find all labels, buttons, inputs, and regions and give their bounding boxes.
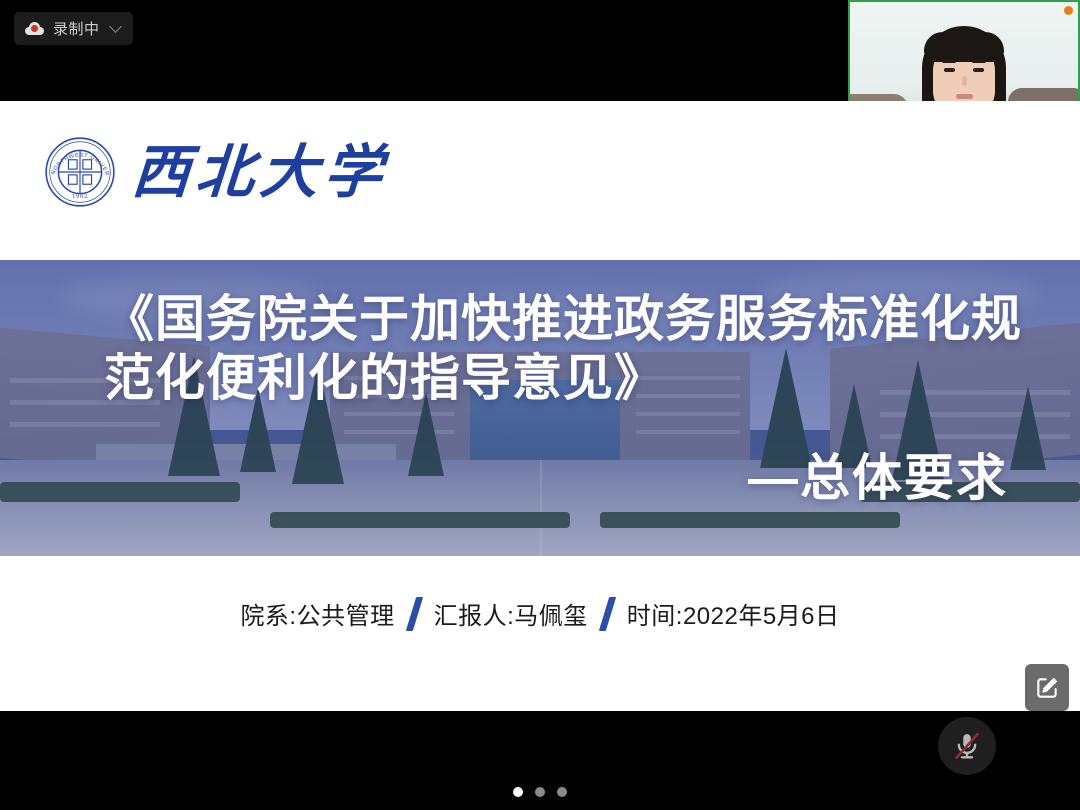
university-seal-icon: NORTHWEST UNIVERSITY XIAN CHINA 1902 (44, 136, 116, 208)
participant-mouth (956, 94, 973, 99)
meta-date: 时间:2022年5月6日 (627, 596, 840, 631)
participant-nose (962, 76, 967, 86)
participant-brow-right (972, 60, 986, 63)
participant-fringe (924, 32, 1004, 62)
annotate-pencil-icon (1034, 675, 1060, 701)
recording-status-badge[interactable]: 录制中 (14, 12, 133, 45)
svg-text:1902: 1902 (72, 193, 88, 200)
university-logo: NORTHWEST UNIVERSITY XIAN CHINA 1902 西北大… (44, 136, 388, 208)
meta-presenter: 汇报人:马佩玺 (434, 596, 588, 631)
participant-eye-right (973, 68, 984, 72)
chevron-down-icon[interactable] (109, 20, 122, 33)
slide-subtitle: —总体要求 (748, 438, 1008, 510)
bottom-toolbar (0, 711, 1080, 810)
meeting-screenshare-view: 录制中 马佩玺 (0, 0, 1080, 810)
cloud-recording-icon (25, 22, 44, 35)
annotate-button[interactable] (1025, 664, 1069, 711)
top-toolbar: 录制中 马佩玺 (0, 0, 1080, 101)
microphone-muted-icon (952, 731, 982, 761)
university-wordmark: 西北大学 (130, 143, 390, 201)
pagination-dot-3[interactable] (557, 787, 567, 797)
slide-title: 《国务院关于加快推进政务服务标准化规范化便利化的指导意见》 (0, 290, 1080, 408)
shared-slide[interactable]: NORTHWEST UNIVERSITY XIAN CHINA 1902 西北大… (0, 101, 1080, 711)
mute-toggle-button[interactable] (938, 717, 996, 775)
participant-eye-left (944, 68, 955, 72)
meta-department: 院系:公共管理 (240, 596, 394, 631)
pagination-dot-1[interactable] (513, 787, 523, 797)
pagination-dot-2[interactable] (535, 787, 545, 797)
meta-separator-icon (599, 597, 616, 631)
slide-banner: 《国务院关于加快推进政务服务标准化规范化便利化的指导意见》 —总体要求 (0, 260, 1080, 556)
network-status-dot (1064, 6, 1073, 15)
meta-separator-icon (405, 597, 422, 631)
slide-pagination[interactable] (0, 787, 1080, 797)
recording-status-label: 录制中 (53, 18, 100, 39)
slide-meta-row: 院系:公共管理 汇报人:马佩玺 时间:2022年5月6日 (0, 596, 1080, 631)
participant-brow-left (942, 60, 956, 63)
